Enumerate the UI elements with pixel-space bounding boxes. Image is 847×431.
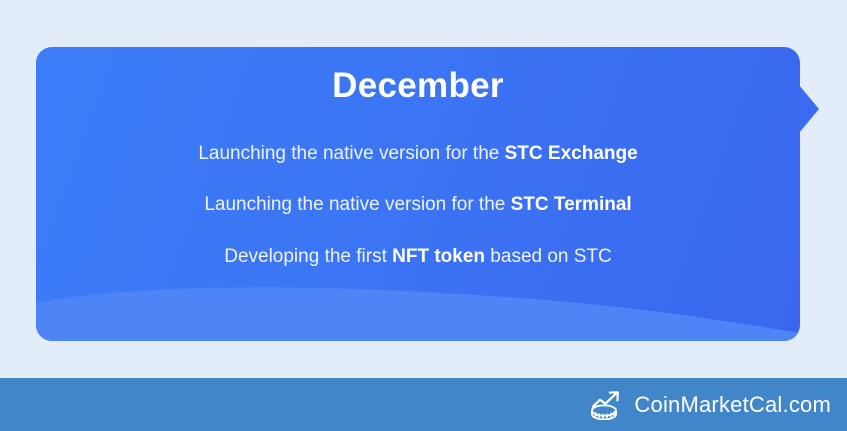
milestone-prefix: Launching the native version for the	[198, 143, 504, 164]
milestone-highlight: STC Terminal	[511, 194, 632, 215]
footer-bar: CoinMarketCal.com	[0, 378, 847, 431]
milestone-highlight: STC Exchange	[505, 143, 638, 164]
card-pointer-notch	[799, 85, 819, 133]
milestone-prefix: Launching the native version for the	[204, 194, 510, 215]
milestone-prefix: Developing the first	[224, 246, 392, 267]
roadmap-card: December Launching the native version fo…	[36, 47, 800, 341]
milestone-highlight: NFT token	[392, 246, 485, 267]
list-item: Launching the native version for the STC…	[174, 128, 661, 180]
list-item: Developing the first NFT token based on …	[200, 231, 636, 283]
coin-chart-arrow-icon	[589, 390, 623, 420]
brand-lockup: CoinMarketCal.com	[589, 390, 831, 420]
page-title: December	[332, 67, 504, 106]
list-item: Launching the native version for the STC…	[180, 179, 655, 231]
milestone-list: Launching the native version for the STC…	[36, 128, 800, 283]
brand-name: CoinMarketCal.com	[634, 392, 831, 418]
milestone-suffix: based on STC	[485, 246, 612, 267]
card-content: December Launching the native version fo…	[36, 47, 800, 341]
